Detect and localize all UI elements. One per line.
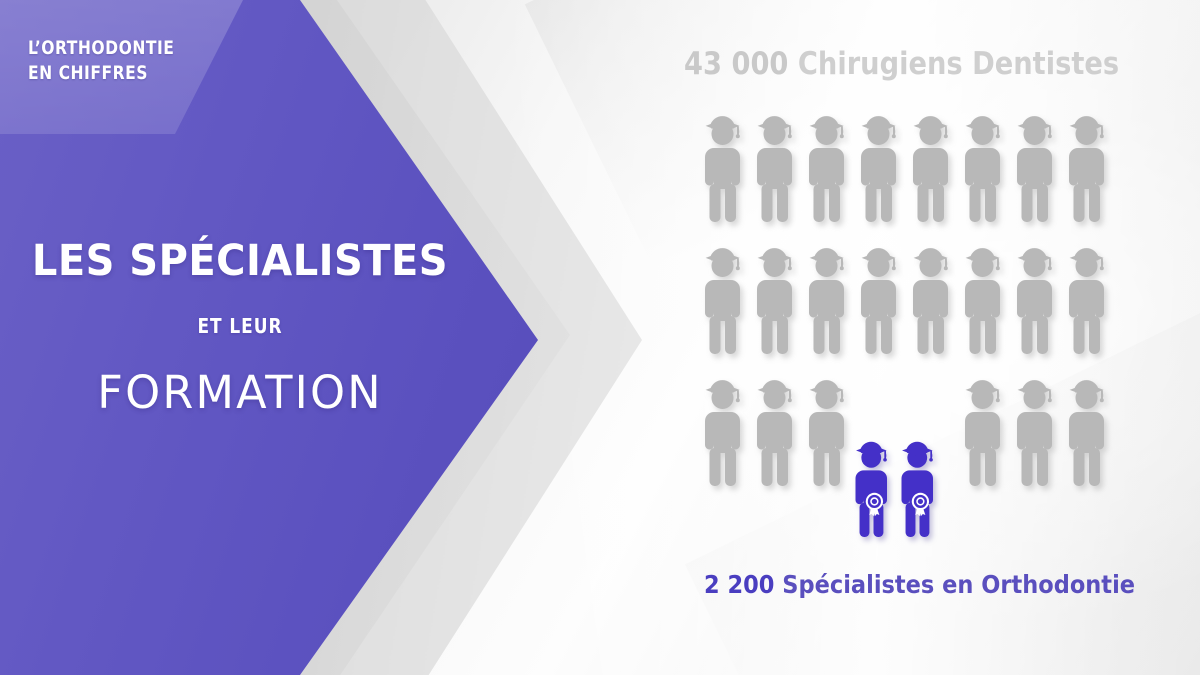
- pictogram-dentist-figure: [752, 112, 798, 224]
- pictogram-dentist-figure: [960, 112, 1006, 224]
- pictogram-specialist-figure: [897, 438, 938, 539]
- pictogram-dentist-figure: [856, 244, 902, 356]
- pictogram-dentist-figure: [856, 112, 902, 224]
- pictogram-dentist-figure: [1064, 112, 1110, 224]
- pictogram-dentist-figure: [700, 112, 746, 224]
- pictogram-dentist-figure: [1012, 244, 1058, 356]
- pictogram-dentist-figure: [804, 376, 850, 488]
- pictogram-dentist-figure: [908, 244, 954, 356]
- pictogram-dentist-figure: [804, 112, 850, 224]
- pictogram-dentist-figure: [700, 376, 746, 488]
- pictogram-dentist-figure: [752, 376, 798, 488]
- pictogram-dentist-figure: [1064, 376, 1110, 488]
- pictogram-dentist-figure: [1012, 112, 1058, 224]
- pictogram-dentist-figure: [700, 244, 746, 356]
- infographic-slide: L’ORTHODONTIE EN CHIFFRES LES SPÉCIALIST…: [0, 0, 1200, 675]
- pictogram-figure-grid: [0, 0, 1200, 675]
- pictogram-dentist-figure: [960, 376, 1006, 488]
- pictogram-dentist-figure: [1012, 376, 1058, 488]
- pictogram-dentist-figure: [1064, 244, 1110, 356]
- pictogram-specialist-figure: [851, 438, 892, 539]
- pictogram-dentist-figure: [804, 244, 850, 356]
- pictogram-dentist-figure: [752, 244, 798, 356]
- pictogram-dentist-figure: [908, 112, 954, 224]
- pictogram-dentist-figure: [960, 244, 1006, 356]
